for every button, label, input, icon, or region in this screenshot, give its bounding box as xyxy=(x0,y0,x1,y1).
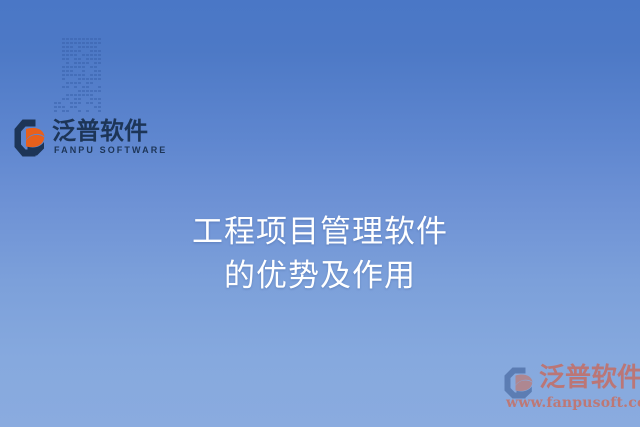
watermark-chinese-name: 泛普软件 xyxy=(539,363,640,393)
fanpu-emblem-icon xyxy=(13,118,47,158)
slide-title-line-2: 的优势及作用 xyxy=(0,254,640,298)
presentation-slide: 泛普软件 FANPU SOFTWARE 工程项目管理软件 的优势及作用 泛普软件… xyxy=(0,0,640,427)
slide-title-line-1: 工程项目管理软件 xyxy=(0,210,640,254)
brand-logo-chinese-name: 泛普软件 xyxy=(52,117,148,145)
watermark: 泛普软件 www.fanpusoft.com xyxy=(503,363,640,419)
watermark-url: www.fanpusoft.com xyxy=(506,395,640,411)
slide-title: 工程项目管理软件 的优势及作用 xyxy=(0,210,640,298)
pixel-city-skyline-icon xyxy=(18,30,130,114)
brand-logo-english-name: FANPU SOFTWARE xyxy=(54,145,167,155)
brand-logo: 泛普软件 FANPU SOFTWARE xyxy=(13,116,148,164)
